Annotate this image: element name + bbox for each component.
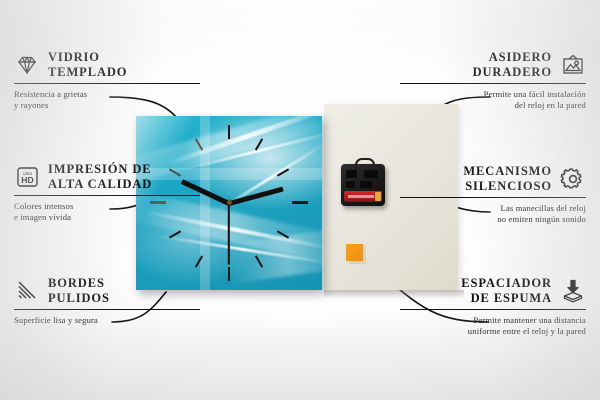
polished-edges-icon bbox=[14, 279, 40, 303]
foam-spacer-icon bbox=[560, 279, 586, 303]
feature-title-line2: SILENCIOSO bbox=[463, 179, 552, 194]
battery-positive-terminal bbox=[375, 192, 381, 201]
feature-title-line1: ASIDERO bbox=[473, 50, 552, 65]
battery bbox=[344, 191, 382, 202]
feature-title-line1: VIDRIO bbox=[48, 50, 127, 65]
feature-title-line2: DURADERO bbox=[473, 65, 552, 80]
feature-title-line2: TEMPLADO bbox=[48, 65, 127, 80]
hour-mark bbox=[228, 267, 230, 281]
feature-desc-line1: Colores intensos bbox=[14, 201, 200, 212]
feature-desc-line1: Superficie lisa y segura bbox=[14, 315, 200, 326]
feature-title-line1: IMPRESIÓN DE bbox=[48, 162, 152, 177]
feature-desc-line1: Permite una fácil instalación bbox=[400, 89, 586, 100]
product-infographic: VIDRIO TEMPLADO Resistencia a grietas y … bbox=[0, 0, 600, 400]
feature-divider bbox=[14, 195, 200, 196]
ultra-hd-badge-icon: ultra HD bbox=[14, 165, 40, 189]
feature-desc-line2: del reloj en la pared bbox=[400, 100, 586, 111]
feature-title-line1: MECANISMO bbox=[463, 164, 552, 179]
clock-mechanism bbox=[341, 164, 385, 206]
mechanism-hanger-loop bbox=[355, 158, 375, 170]
feature-desc-line1: Las manecillas del reloj bbox=[400, 203, 586, 214]
feature-title-line1: BORDES bbox=[48, 276, 110, 291]
feature-desc-line2: e imagen vívida bbox=[14, 212, 200, 223]
feature-title-line2: DE ESPUMA bbox=[461, 291, 552, 306]
diamond-icon bbox=[14, 53, 40, 77]
feature-bordes-pulidos: BORDES PULIDOS Superficie lisa y segura bbox=[14, 276, 200, 326]
foam-spacer-piece bbox=[346, 244, 363, 261]
feature-divider bbox=[14, 309, 200, 310]
feature-title-line2: ALTA CALIDAD bbox=[48, 177, 152, 192]
gear-icon bbox=[560, 167, 586, 191]
feature-desc-line1: Resistencia a grietas bbox=[14, 89, 200, 100]
hour-mark bbox=[228, 125, 230, 139]
feature-title-line1: ESPACIADOR bbox=[461, 276, 552, 291]
feature-espaciador-de-espuma: ESPACIADOR DE ESPUMA Permite mantener un… bbox=[400, 276, 586, 337]
picture-hanger-icon bbox=[560, 53, 586, 77]
feature-asidero-duradero: ASIDERO DURADERO Permite una fácil insta… bbox=[400, 50, 586, 111]
hour-mark bbox=[292, 201, 308, 204]
second-hand bbox=[228, 203, 230, 265]
feature-desc-line1: Permite mantener una distancia bbox=[400, 315, 586, 326]
feature-vidrio-templado: VIDRIO TEMPLADO Resistencia a grietas y … bbox=[14, 50, 200, 111]
feature-desc-line2: no emiten ningún sonido bbox=[400, 214, 586, 225]
svg-text:HD: HD bbox=[21, 175, 33, 185]
feature-divider bbox=[400, 309, 586, 310]
feature-desc-line2: y rayones bbox=[14, 100, 200, 111]
feature-desc-line2: uniforme entre el reloj y la pared bbox=[400, 326, 586, 337]
feature-impresion-alta-calidad: ultra HD IMPRESIÓN DE ALTA CALIDAD Color… bbox=[14, 162, 200, 223]
feature-divider bbox=[400, 197, 586, 198]
feature-divider bbox=[14, 83, 200, 84]
feature-mecanismo-silencioso: MECANISMO SILENCIOSO Las manecillas del … bbox=[400, 164, 586, 225]
clock-hub bbox=[227, 200, 232, 205]
feature-divider bbox=[400, 83, 586, 84]
feature-title-line2: PULIDOS bbox=[48, 291, 110, 306]
